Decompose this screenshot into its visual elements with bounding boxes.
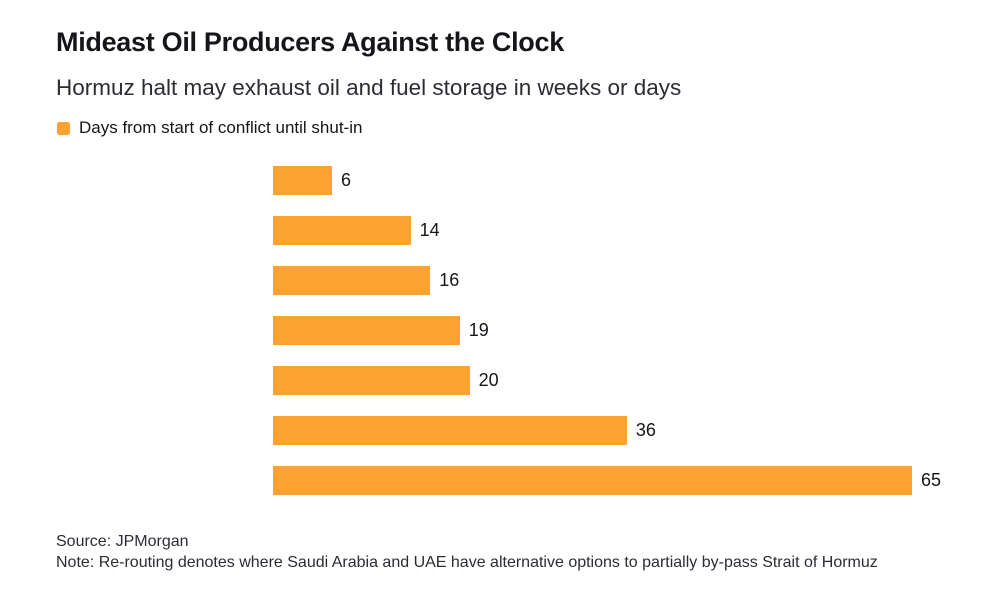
bar (273, 316, 460, 345)
bar-chart-plot-area: Iraq6Kuwait14UAE (ex. re-routing)16UAE(r… (0, 0, 1004, 616)
bar-value-label: 19 (469, 316, 489, 345)
bar-value-label: 65 (921, 466, 941, 495)
bar-value-label: 20 (479, 366, 499, 395)
source-note: Source: JPMorgan (56, 531, 956, 552)
bar (273, 266, 430, 295)
bar-value-label: 6 (341, 166, 351, 195)
bar-value-label: 36 (636, 416, 656, 445)
bar (273, 366, 470, 395)
chart-canvas: Mideast Oil Producers Against the Clock … (0, 0, 1004, 616)
bar-value-label: 16 (439, 266, 459, 295)
methodology-note: Note: Re-routing denotes where Saudi Ara… (56, 552, 956, 573)
bar (273, 166, 332, 195)
bar-value-label: 14 (420, 216, 440, 245)
chart-footnotes: Source: JPMorgan Note: Re-routing denote… (56, 531, 956, 573)
bar (273, 416, 627, 445)
bar (273, 216, 411, 245)
bar (273, 466, 912, 495)
